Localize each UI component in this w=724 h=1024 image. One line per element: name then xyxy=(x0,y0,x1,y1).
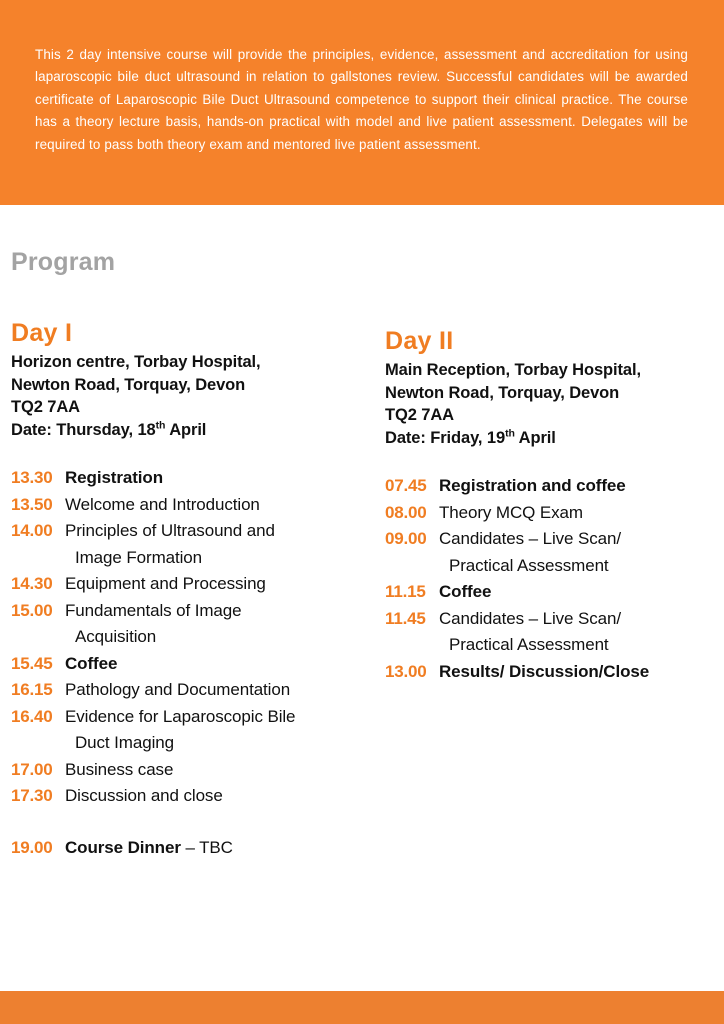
schedule-description: Results/ Discussion/Close xyxy=(439,659,649,686)
schedule-time: 19.00 xyxy=(11,835,65,862)
schedule-description-text: Candidates – Live Scan/ xyxy=(439,609,621,628)
schedule-row: 11.15Coffee xyxy=(385,579,724,606)
schedule-description: Pathology and Documentation xyxy=(65,677,290,704)
schedule-description: Evidence for Laparoscopic Bile xyxy=(65,704,295,731)
schedule-row: 19.00Course Dinner – TBC xyxy=(11,835,371,862)
schedule-time: 13.50 xyxy=(11,492,65,519)
schedule-description: Fundamentals of Image xyxy=(65,598,242,625)
schedule-list-day-2: 07.45Registration and coffee08.00Theory … xyxy=(385,473,724,685)
schedule-description-text: Results/ Discussion/Close xyxy=(439,662,649,681)
schedule-description: Coffee xyxy=(65,651,117,678)
day-date-text: Date: Friday, 19 xyxy=(385,429,505,447)
schedule-time: 11.15 xyxy=(385,579,439,606)
schedule-row: 15.00Fundamentals of Image xyxy=(11,598,371,625)
schedule-time: 07.45 xyxy=(385,473,439,500)
schedule-row: 13.50Welcome and Introduction xyxy=(11,492,371,519)
schedule-time: 16.15 xyxy=(11,677,65,704)
schedule-description-text: Pathology and Documentation xyxy=(65,680,290,699)
schedule-row: 17.00Business case xyxy=(11,757,371,784)
schedule-description-text: Discussion and close xyxy=(65,786,223,805)
address-line: TQ2 7AA xyxy=(385,404,724,427)
day-column-2: Day II Main Reception, Torbay Hospital, … xyxy=(385,326,724,685)
schedule-time: 13.00 xyxy=(385,659,439,686)
course-description-paragraph: This 2 day intensive course will provide… xyxy=(35,44,688,156)
schedule-description-continuation: Practical Assessment xyxy=(385,632,724,659)
schedule-time: 11.45 xyxy=(385,606,439,633)
schedule-time: 14.30 xyxy=(11,571,65,598)
schedule-row: 13.30Registration xyxy=(11,465,371,492)
schedule-description-continuation: Acquisition xyxy=(11,624,371,651)
page-title: Program xyxy=(11,248,115,277)
schedule-time: 09.00 xyxy=(385,526,439,553)
schedule-description-text: Business case xyxy=(65,760,173,779)
day-title: Day II xyxy=(385,326,724,356)
day-date-month: April xyxy=(515,429,556,447)
day-venue-address: Horizon centre, Torbay Hospital, Newton … xyxy=(11,351,371,441)
schedule-description-continuation: Duct Imaging xyxy=(11,730,371,757)
day-date: Date: Friday, 19th April xyxy=(385,427,724,450)
schedule-description-text: Fundamentals of Image xyxy=(65,601,242,620)
schedule-description-continuation: Image Formation xyxy=(11,545,371,572)
day-date-text: Date: Thursday, 18 xyxy=(11,421,156,439)
schedule-time: 15.00 xyxy=(11,598,65,625)
schedule-description: Theory MCQ Exam xyxy=(439,500,583,527)
address-line: Main Reception, Torbay Hospital, xyxy=(385,359,724,382)
schedule-description-text: Coffee xyxy=(65,654,117,673)
address-line: TQ2 7AA xyxy=(11,396,371,419)
schedule-list-day-1: 13.30Registration13.50Welcome and Introd… xyxy=(11,465,371,861)
schedule-row: 13.00Results/ Discussion/Close xyxy=(385,659,724,686)
address-line: Newton Road, Torquay, Devon xyxy=(11,374,371,397)
schedule-description-continuation: Practical Assessment xyxy=(385,553,724,580)
schedule-row: 16.40Evidence for Laparoscopic Bile xyxy=(11,704,371,731)
schedule-row: 09.00Candidates – Live Scan/ xyxy=(385,526,724,553)
header-banner: This 2 day intensive course will provide… xyxy=(0,0,724,205)
schedule-description-text: Coffee xyxy=(439,582,491,601)
schedule-time: 13.30 xyxy=(11,465,65,492)
schedule-description: Equipment and Processing xyxy=(65,571,266,598)
schedule-description: Coffee xyxy=(439,579,491,606)
schedule-description-text: Theory MCQ Exam xyxy=(439,503,583,522)
day-date-month: April xyxy=(165,421,206,439)
schedule-description: Registration and coffee xyxy=(439,473,626,500)
schedule-description: Welcome and Introduction xyxy=(65,492,260,519)
schedule-description-text: Candidates – Live Scan/ xyxy=(439,529,621,548)
date-ordinal-suffix: th xyxy=(505,427,515,439)
schedule-description-tail: – TBC xyxy=(181,838,233,857)
schedule-description: Candidates – Live Scan/ xyxy=(439,606,621,633)
schedule-description: Discussion and close xyxy=(65,783,223,810)
schedule-row: 07.45Registration and coffee xyxy=(385,473,724,500)
schedule-description-text: Course Dinner xyxy=(65,838,181,857)
schedule-row: 08.00Theory MCQ Exam xyxy=(385,500,724,527)
schedule-row: 17.30Discussion and close xyxy=(11,783,371,810)
schedule-description: Business case xyxy=(65,757,173,784)
day-column-1: Day I Horizon centre, Torbay Hospital, N… xyxy=(11,318,371,861)
schedule-time: 15.45 xyxy=(11,651,65,678)
schedule-description: Registration xyxy=(65,465,163,492)
schedule-description-text: Equipment and Processing xyxy=(65,574,266,593)
schedule-description-text: Welcome and Introduction xyxy=(65,495,260,514)
schedule-description: Candidates – Live Scan/ xyxy=(439,526,621,553)
schedule-description: Course Dinner – TBC xyxy=(65,835,233,862)
date-ordinal-suffix: th xyxy=(156,419,166,431)
schedule-row: 14.00Principles of Ultrasound and xyxy=(11,518,371,545)
schedule-row: 11.45Candidates – Live Scan/ xyxy=(385,606,724,633)
schedule-time: 16.40 xyxy=(11,704,65,731)
schedule-time: 17.00 xyxy=(11,757,65,784)
schedule-row: 16.15Pathology and Documentation xyxy=(11,677,371,704)
schedule-description: Principles of Ultrasound and xyxy=(65,518,275,545)
schedule-time: 14.00 xyxy=(11,518,65,545)
schedule-row: 15.45Coffee xyxy=(11,651,371,678)
schedule-description-text: Principles of Ultrasound and xyxy=(65,521,275,540)
schedule-row: 14.30Equipment and Processing xyxy=(11,571,371,598)
schedule-description-text: Registration and coffee xyxy=(439,476,626,495)
schedule-time: 08.00 xyxy=(385,500,439,527)
address-line: Newton Road, Torquay, Devon xyxy=(385,382,724,405)
day-date: Date: Thursday, 18th April xyxy=(11,419,371,442)
footer-bar xyxy=(0,991,724,1024)
schedule-time: 17.30 xyxy=(11,783,65,810)
day-venue-address: Main Reception, Torbay Hospital, Newton … xyxy=(385,359,724,449)
address-line: Horizon centre, Torbay Hospital, xyxy=(11,351,371,374)
schedule-description-text: Registration xyxy=(65,468,163,487)
schedule-description-text: Evidence for Laparoscopic Bile xyxy=(65,707,295,726)
day-title: Day I xyxy=(11,318,371,348)
